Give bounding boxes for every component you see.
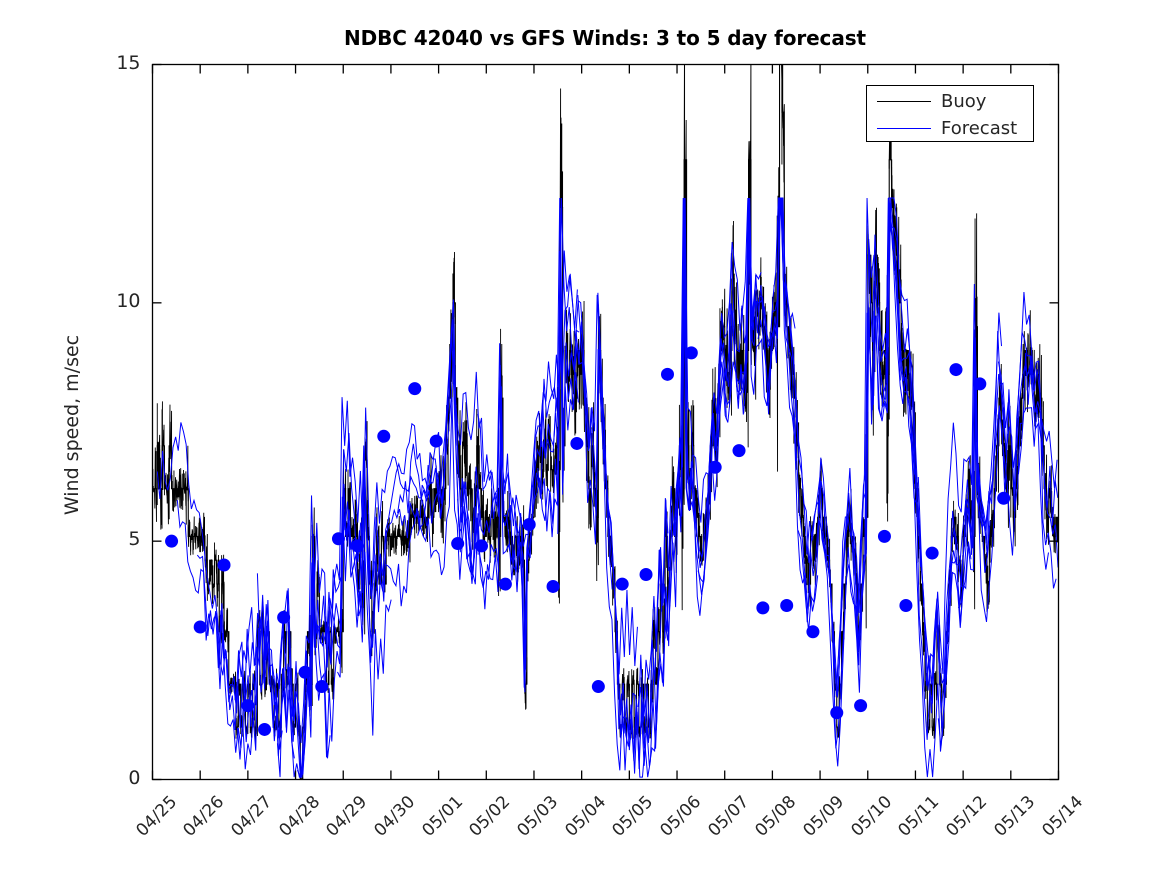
forecast-marker xyxy=(733,444,746,457)
forecast-marker xyxy=(258,723,271,736)
legend-swatch-buoy xyxy=(877,101,931,102)
forecast-marker xyxy=(377,430,390,443)
forecast-marker xyxy=(299,666,312,679)
forecast-marker xyxy=(499,578,512,591)
forecast-marker xyxy=(523,518,536,531)
forecast-marker xyxy=(547,580,560,593)
forecast-marker xyxy=(756,601,769,614)
forecast-marker xyxy=(709,461,722,474)
forecast-marker xyxy=(806,625,819,638)
forecast-marker xyxy=(973,377,986,390)
forecast-marker xyxy=(332,532,345,545)
legend-entry-buoy: Buoy xyxy=(867,87,1033,115)
forecast-marker xyxy=(949,363,962,376)
y-tick-label: 5 xyxy=(81,528,141,550)
legend-label-buoy: Buoy xyxy=(941,91,986,112)
forecast-marker xyxy=(218,559,231,572)
forecast-marker xyxy=(430,435,443,448)
forecast-marker xyxy=(570,437,583,450)
legend: Buoy Forecast xyxy=(866,85,1034,142)
forecast-marker xyxy=(830,706,843,719)
forecast-marker xyxy=(926,547,939,560)
forecast-marker xyxy=(997,492,1010,505)
forecast-marker xyxy=(194,620,207,633)
forecast-marker xyxy=(878,530,891,543)
forecast-marker xyxy=(616,578,629,591)
chart-figure: NDBC 42040 vs GFS Winds: 3 to 5 day fore… xyxy=(0,0,1167,875)
forecast-marker xyxy=(780,599,793,612)
y-tick-label: 15 xyxy=(81,52,141,74)
forecast-marker xyxy=(165,535,178,548)
forecast-marker xyxy=(475,539,488,552)
forecast-marker xyxy=(451,537,464,550)
forecast-marker xyxy=(241,699,254,712)
forecast-marker xyxy=(315,680,328,693)
forecast-marker xyxy=(685,346,698,359)
y-tick-label: 0 xyxy=(81,767,141,789)
forecast-marker xyxy=(351,539,364,552)
legend-swatch-forecast xyxy=(877,128,931,129)
forecast-marker xyxy=(899,599,912,612)
legend-label-forecast: Forecast xyxy=(941,118,1017,139)
forecast-marker xyxy=(640,568,653,581)
forecast-marker xyxy=(277,611,290,624)
forecast-marker xyxy=(854,699,867,712)
forecast-marker xyxy=(661,368,674,381)
forecast-marker xyxy=(408,382,421,395)
legend-entry-forecast: Forecast xyxy=(867,114,1033,142)
forecast-marker xyxy=(592,680,605,693)
y-tick-label: 10 xyxy=(81,290,141,312)
